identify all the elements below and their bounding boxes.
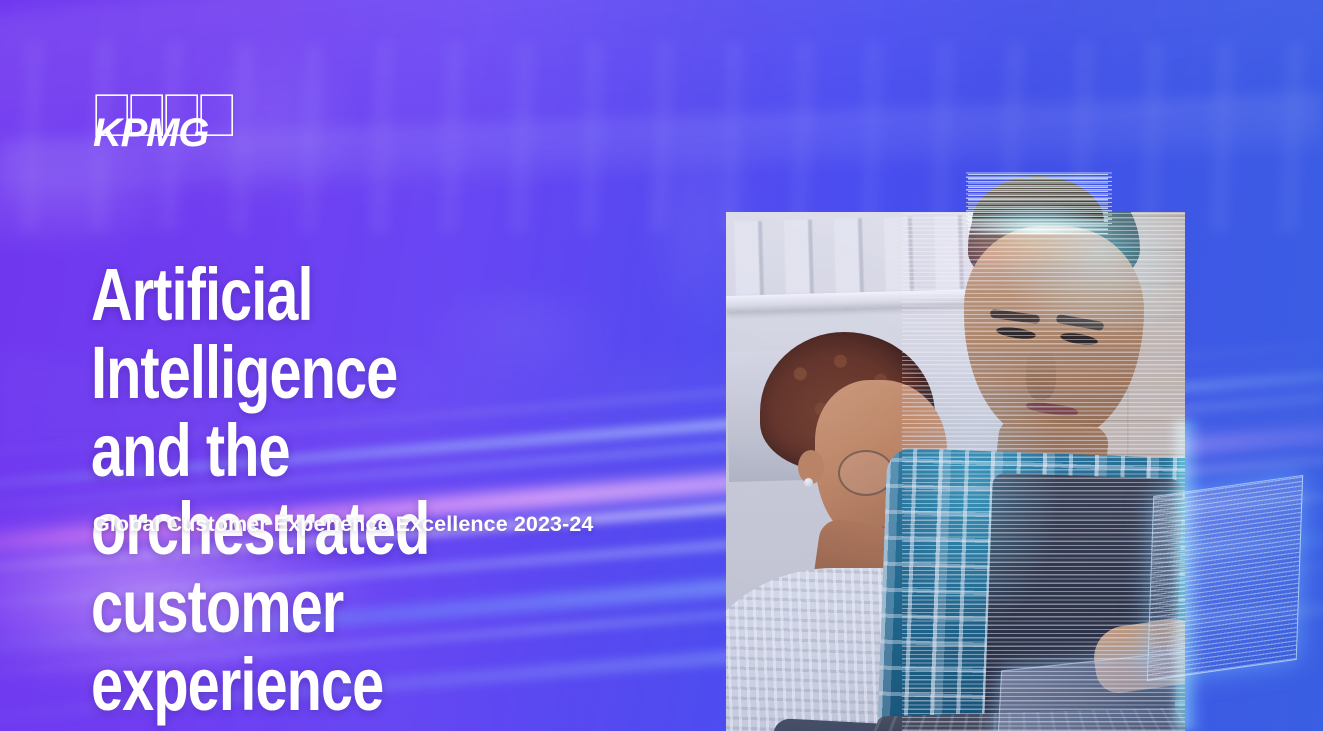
cover-photo-frame xyxy=(726,212,1185,731)
svg-text:KPMG: KPMG xyxy=(93,111,208,152)
report-cover-page: KPMG Artificial Intelligence and the orc… xyxy=(0,0,1323,731)
cover-photo xyxy=(726,212,1185,731)
laptop-screen-overflow xyxy=(1147,475,1303,681)
man-nose xyxy=(1026,348,1056,400)
page-title: Artificial Intelligence and the orchestr… xyxy=(91,256,575,724)
page-subtitle: Global Customer Experience Excellence 20… xyxy=(93,512,593,537)
photo-edge-glow xyxy=(1176,420,1202,731)
kpmg-logo[interactable]: KPMG xyxy=(93,94,236,152)
woman-earring xyxy=(804,478,813,487)
man-head-scanlines xyxy=(966,172,1112,224)
kpmg-four-squares-logo-icon: KPMG xyxy=(93,94,236,152)
photo-person-man xyxy=(922,212,1185,731)
